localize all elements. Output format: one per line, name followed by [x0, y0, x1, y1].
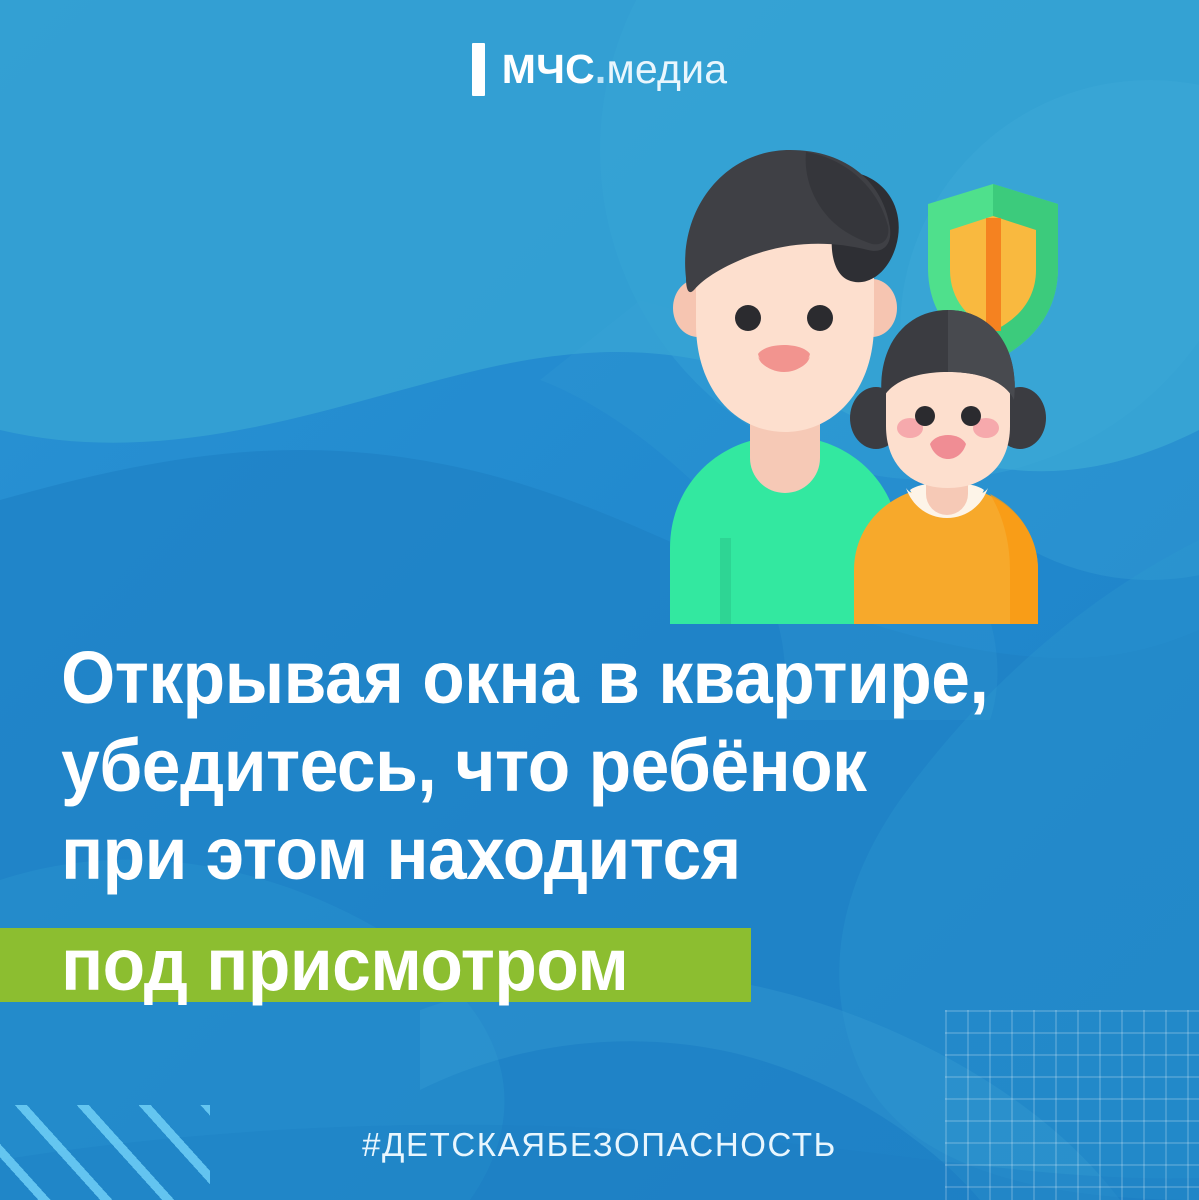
adult-eye-left: [735, 305, 761, 331]
brand-name-light: медиа: [607, 49, 728, 90]
headline-line-3: при этом находится: [0, 810, 1127, 898]
hashtag-label: #ДЕТСКАЯБЕЗОПАСНОСТЬ: [0, 1126, 1199, 1164]
headline-block: Открывая окна в квартире, убедитесь, что…: [0, 634, 1199, 898]
brand-dot: .: [595, 49, 607, 90]
adult-eye-right: [807, 305, 833, 331]
headline-line-1: Открывая окна в квартире,: [0, 634, 1127, 722]
brand-name-bold: МЧС: [502, 49, 595, 90]
adult-shirt-fold: [720, 538, 731, 624]
headline-highlight-text: под присмотром: [0, 930, 706, 1000]
poster-canvas: МЧС.медиа: [0, 0, 1199, 1200]
grid-pattern-decoration: [945, 1010, 1199, 1200]
brand-logo: МЧС.медиа: [0, 41, 1199, 97]
vertical-bar-icon: [472, 43, 485, 96]
adult-and-child-illustration: [638, 128, 1090, 624]
child-eye-left: [915, 406, 935, 426]
headline-line-2: убедитесь, что ребёнок: [0, 722, 1127, 810]
brand-wordmark: МЧС.медиа: [502, 49, 727, 90]
child-eye-right: [961, 406, 981, 426]
